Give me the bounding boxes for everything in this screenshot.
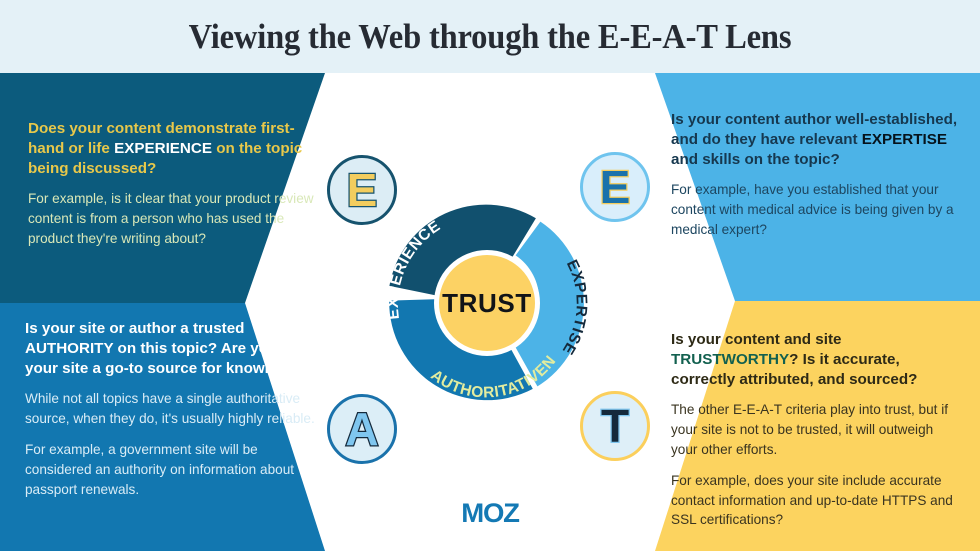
heading-authoritativeness: Is your site or author a trusted AUTHORI… — [25, 319, 317, 378]
header-band: Viewing the Web through the E-E-A-T Lens — [0, 0, 980, 73]
heading-trust: Is your content and site TRUSTWORTHY? Is… — [671, 330, 963, 389]
heading-expertise-post: and skills on the topic? — [671, 151, 840, 168]
badge-t-trust: T — [580, 391, 650, 461]
heading-authoritativeness-keyword: AUTHORITY — [25, 340, 113, 357]
badge-e-experience: E — [327, 155, 397, 225]
badge-e-expertise-letter: E — [600, 164, 631, 210]
heading-expertise: Is your content author well-established,… — [671, 110, 961, 169]
badge-e-expertise: E — [580, 152, 650, 222]
copy-expertise: Is your content author well-established,… — [671, 110, 961, 240]
body-experience: For example, is it clear that your produ… — [28, 189, 320, 249]
copy-authoritativeness: Is your site or author a trusted AUTHORI… — [25, 319, 317, 499]
donut-center-trust: TRUST — [434, 250, 540, 356]
badge-a-authoritativeness-letter: A — [345, 406, 378, 452]
body-trust-1: The other E-E-A-T criteria play into tru… — [671, 400, 963, 460]
body-expertise: For example, have you established that y… — [671, 180, 961, 240]
page-title: Viewing the Web through the E-E-A-T Lens — [189, 17, 792, 57]
moz-logo: MOZ — [0, 498, 980, 529]
body-authoritativeness-1: While not all topics have a single autho… — [25, 389, 317, 429]
heading-trust-pre: Is your content and site — [671, 331, 841, 348]
donut-center-label: TRUST — [442, 288, 532, 319]
infographic-canvas: Viewing the Web through the E-E-A-T Lens… — [0, 0, 980, 551]
badge-a-authoritativeness: A — [327, 394, 397, 464]
heading-expertise-keyword: EXPERTISE — [862, 131, 947, 148]
heading-experience-keyword: EXPERIENCE — [114, 140, 212, 157]
heading-authoritativeness-pre: Is your site or author a trusted — [25, 320, 244, 337]
heading-trust-keyword: TRUSTWORTHY — [671, 351, 789, 368]
heading-experience: Does your content demonstrate first-hand… — [28, 119, 320, 178]
badge-e-experience-letter: E — [347, 167, 378, 213]
body-authoritativeness-2: For example, a government site will be c… — [25, 440, 317, 500]
badge-t-trust-letter: T — [601, 403, 629, 449]
copy-experience: Does your content demonstrate first-hand… — [28, 119, 320, 249]
